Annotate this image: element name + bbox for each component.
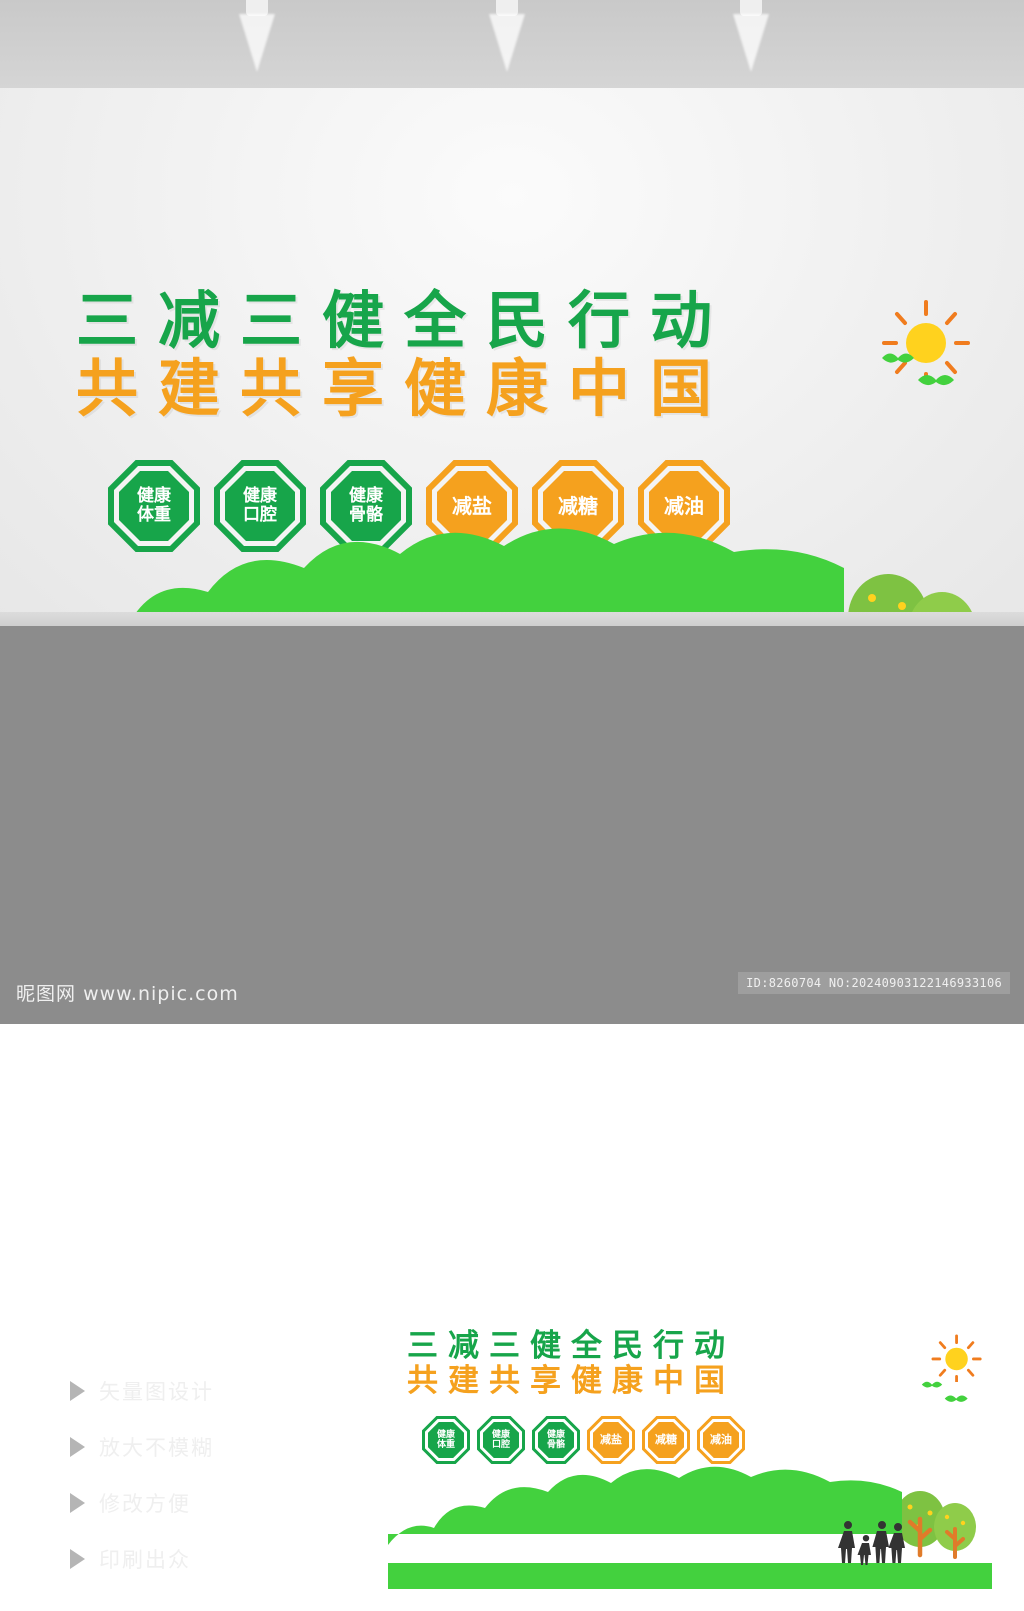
feature-label: 放大不模糊	[99, 1432, 214, 1462]
badge-label-top: 健康	[349, 487, 383, 506]
poster-page: 三 减 三 健 全 民 行 动 共 建 共 享 健 康 中 国	[0, 0, 1024, 1024]
headline-char: 民	[476, 288, 558, 354]
feature-label: 修改方便	[99, 1488, 191, 1518]
badge-label-bottom: 体重	[437, 1440, 455, 1450]
headline-char: 健	[394, 354, 476, 424]
headline-char: 中	[648, 1363, 689, 1399]
headline-char: 健	[312, 288, 394, 354]
headline-char: 动	[689, 1329, 730, 1363]
headline-char: 建	[443, 1363, 484, 1399]
wall-shadow	[0, 612, 1024, 626]
triangle-bullet-icon	[70, 1549, 85, 1569]
headline-char: 康	[476, 354, 558, 424]
wall-mockup: 三 减 三 健 全 民 行 动 共 建 共 享 健 康 中 国	[0, 88, 1024, 626]
birds-icon	[918, 1371, 988, 1411]
badge-label: 减油	[664, 497, 704, 516]
feature-item: 印刷出众	[70, 1544, 214, 1574]
thumb-headline-line-1: 三 减 三 健 全 民 行 动	[402, 1329, 730, 1363]
lower-info-band: 矢量图设计 放大不模糊 修改方便 印刷出众 三 减 三	[0, 626, 1024, 1024]
headline-char: 共	[402, 1363, 443, 1399]
badge-label: 健康 口腔	[243, 487, 277, 525]
headline-char: 国	[689, 1363, 730, 1399]
site-url: www.nipic.com	[83, 983, 239, 1005]
headline-char: 民	[607, 1329, 648, 1363]
ceiling-strip	[0, 0, 1024, 88]
headline-char: 共	[66, 354, 148, 424]
headline-char: 国	[640, 354, 722, 424]
badge-label: 减油	[710, 1435, 732, 1445]
headline-char: 减	[443, 1329, 484, 1363]
headline-char: 中	[558, 354, 640, 424]
headline-char: 共	[484, 1363, 525, 1399]
headline-char: 三	[66, 288, 148, 354]
green-hills-shape	[388, 1467, 902, 1545]
thumb-headline-block: 三 减 三 健 全 民 行 动 共 建 共 享 健 康 中 国	[402, 1329, 730, 1399]
triangle-bullet-icon	[70, 1493, 85, 1513]
badge-label-bottom: 骨骼	[547, 1440, 565, 1450]
headline-line-1: 三 减 三 健 全 民 行 动	[66, 288, 722, 354]
badge-label-bottom: 口腔	[492, 1440, 510, 1450]
headline-char: 三	[230, 288, 312, 354]
triangle-bullet-icon	[70, 1437, 85, 1457]
badge-label-top: 健康	[547, 1430, 565, 1440]
badge-reduce-sugar[interactable]: 减糖	[642, 1416, 690, 1464]
headline-char: 康	[607, 1363, 648, 1399]
headline-char: 减	[148, 288, 230, 354]
badge-health-weight[interactable]: 健康 体重	[422, 1416, 470, 1464]
badge-label-top: 健康	[137, 487, 171, 506]
thumbnail-preview-card[interactable]: 三 减 三 健 全 民 行 动 共 建 共 享 健 康 中 国	[370, 1271, 1009, 1611]
headline-char: 健	[525, 1329, 566, 1363]
badge-label: 健康 骨骼	[547, 1430, 565, 1450]
light-cone	[733, 14, 769, 72]
badge-label: 减盐	[600, 1435, 622, 1445]
feature-list: 矢量图设计 放大不模糊 修改方便 印刷出众	[70, 1376, 214, 1600]
badge-label: 减糖	[558, 497, 598, 516]
light-cone	[239, 14, 275, 72]
badge-label: 减糖	[655, 1435, 677, 1445]
feature-item: 修改方便	[70, 1488, 214, 1518]
headline-char: 全	[394, 288, 476, 354]
thumb-badge-row: 健康 体重 健康 口腔	[422, 1416, 745, 1464]
birds-icon	[876, 338, 986, 398]
headline-char: 行	[648, 1329, 689, 1363]
headline-block: 三 减 三 健 全 民 行 动 共 建 共 享 健 康 中 国	[66, 288, 722, 424]
site-name-cn: 昵图网	[16, 983, 76, 1005]
site-logo: 昵图网 www.nipic.com	[16, 979, 239, 1006]
feature-label: 矢量图设计	[99, 1376, 214, 1406]
ground-strip	[388, 1563, 992, 1589]
headline-char: 建	[148, 354, 230, 424]
headline-char: 全	[566, 1329, 607, 1363]
badge-label-top: 健康	[243, 487, 277, 506]
badge-label: 减盐	[452, 497, 492, 516]
light-cone	[489, 14, 525, 72]
feature-item: 矢量图设计	[70, 1376, 214, 1406]
badge-label-top: 健康	[492, 1430, 510, 1440]
headline-char: 三	[402, 1329, 443, 1363]
thumb-headline-line-2: 共 建 共 享 健 康 中 国	[402, 1363, 730, 1399]
thumb-landscape-scene	[370, 1459, 1009, 1611]
feature-label: 印刷出众	[99, 1544, 191, 1574]
badge-label: 健康 体重	[437, 1430, 455, 1450]
headline-char: 享	[312, 354, 394, 424]
headline-char: 动	[640, 288, 722, 354]
headline-char: 行	[558, 288, 640, 354]
headline-char: 三	[484, 1329, 525, 1363]
badge-reduce-oil[interactable]: 减油	[697, 1416, 745, 1464]
badge-label: 健康 体重	[137, 487, 171, 525]
badge-label-top: 健康	[437, 1430, 455, 1440]
feature-item: 放大不模糊	[70, 1432, 214, 1462]
headline-line-2: 共 建 共 享 健 康 中 国	[66, 354, 722, 424]
badge-label-bottom: 骨骼	[349, 506, 383, 525]
badge-label-bottom: 口腔	[243, 506, 277, 525]
thumb-hills-and-figures	[370, 1459, 1009, 1611]
badge-health-bone[interactable]: 健康 骨骼	[532, 1416, 580, 1464]
trees-icon	[895, 1491, 976, 1557]
badge-label: 健康 骨骼	[349, 487, 383, 525]
badge-label: 健康 口腔	[492, 1430, 510, 1450]
headline-char: 享	[525, 1363, 566, 1399]
headline-char: 共	[230, 354, 312, 424]
badge-reduce-salt[interactable]: 减盐	[587, 1416, 635, 1464]
headline-char: 健	[566, 1363, 607, 1399]
badge-label-bottom: 体重	[137, 506, 171, 525]
badge-health-oral[interactable]: 健康 口腔	[477, 1416, 525, 1464]
triangle-bullet-icon	[70, 1381, 85, 1401]
image-id-badge: ID:8260704 NO:20240903122146933106	[738, 972, 1010, 994]
